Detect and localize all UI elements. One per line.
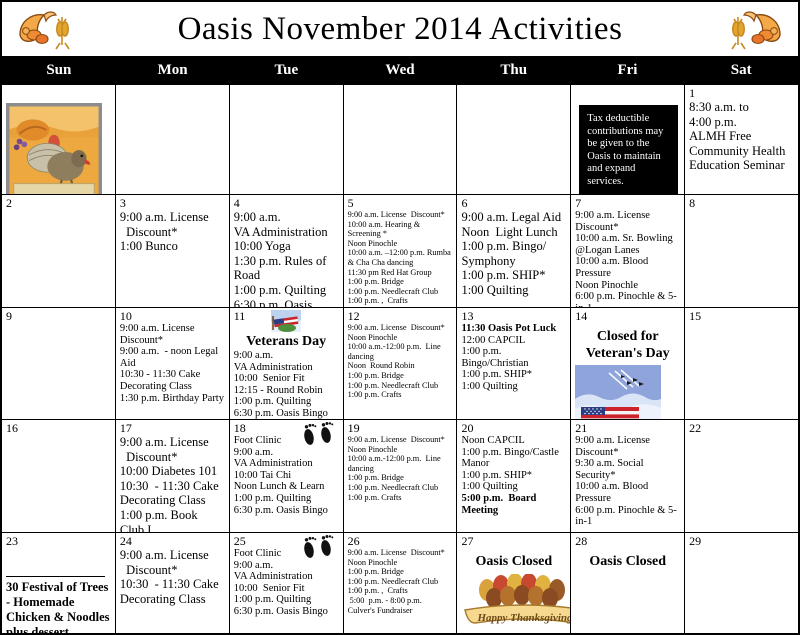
holiday-banner: Oasis Closed bbox=[461, 553, 566, 570]
calendar-week-row: 16179:00 a.m. License Discount*10:00 Dia… bbox=[2, 420, 798, 533]
calendar-day-empty[interactable] bbox=[457, 85, 571, 194]
day-number: 22 bbox=[689, 422, 794, 435]
day-event: 1:00 p.m. Needlecraft Club bbox=[348, 381, 453, 391]
weekday-wed: Wed bbox=[343, 56, 457, 84]
day-event: 5:00 p.m. Board Meeting bbox=[461, 493, 566, 516]
day-event: Pressure bbox=[575, 268, 680, 280]
day-event: Noon Round Robin bbox=[348, 361, 453, 371]
day-event: 1:00 Quilting bbox=[461, 283, 566, 298]
calendar-day-9[interactable]: 9 bbox=[2, 308, 116, 419]
calendar-day-1[interactable]: 18:30 a.m. to4:00 p.m.ALMH FreeCommunity… bbox=[685, 85, 798, 194]
day-number bbox=[6, 87, 111, 100]
day-event: Noon Pinochle bbox=[348, 239, 453, 249]
day-number: 29 bbox=[689, 535, 794, 548]
day-events-list: 9:00 a.m.VA Administration10:00 Yoga1:30… bbox=[234, 210, 339, 307]
day-event: 10:00 Diabetes 101 bbox=[120, 464, 225, 479]
day-event: 10:00 Yoga bbox=[234, 239, 339, 254]
day-events-list: 9:00 a.m. License Discount*1:00 Bunco bbox=[120, 210, 225, 254]
calendar-day-6[interactable]: 69:00 a.m. Legal AidNoon Light Lunch1:00… bbox=[457, 195, 571, 307]
day-event: 4:00 p.m. bbox=[689, 115, 794, 130]
day-event: 9:00 a.m. bbox=[234, 447, 339, 459]
calendar-page: Oasis November 2014 Activities Sun Mon bbox=[0, 0, 800, 635]
day-event: 6:30 p.m. Oasis Bingo bbox=[234, 505, 339, 517]
day-event: 1:00 p.m. Bridge bbox=[348, 277, 453, 287]
calendar-day-14[interactable]: 14Closed forVeteran's Day bbox=[571, 308, 685, 419]
day-event: 10:00 a.m. Blood bbox=[575, 256, 680, 268]
calendar-titlebar: Oasis November 2014 Activities bbox=[0, 0, 800, 56]
day-number: 21 bbox=[575, 422, 680, 435]
weekday-tue: Tue bbox=[229, 56, 343, 84]
day-number: 20 bbox=[461, 422, 566, 435]
happy-thanksgiving-banner-image bbox=[461, 570, 566, 633]
day-event: 1:00 p.m. Quilting bbox=[234, 396, 339, 408]
calendar-day-16[interactable]: 16 bbox=[2, 420, 116, 532]
day-event: 10:00 Tai Chi bbox=[234, 470, 339, 482]
day-events-list: 8:30 a.m. to4:00 p.m.ALMH FreeCommunity … bbox=[689, 100, 794, 173]
holiday-banner: Oasis Closed bbox=[575, 553, 680, 570]
day-number bbox=[461, 87, 566, 100]
day-event: 5:00 p.m. - 8:00 p.m. Culver's Fundraise… bbox=[348, 596, 453, 615]
day-events-list: 9:00 a.m.VA Administration10:00 Senior F… bbox=[234, 350, 339, 419]
day-number: 13 bbox=[461, 310, 566, 323]
day-events-list: 9:00 a.m. License Discount*10:00 a.m. He… bbox=[348, 210, 453, 306]
day-events-list: 11:30 Oasis Pot Luck12:00 CAPCIL1:00 p.m… bbox=[461, 323, 566, 393]
day-event: 1:00 Quilting bbox=[461, 381, 566, 393]
day-event: 10:30 - 11:30 Cake bbox=[120, 577, 225, 592]
day-events-list: 9:00 a.m. License Discount*Noon Pinochle… bbox=[348, 548, 453, 615]
day-event: VA Administration bbox=[234, 362, 339, 374]
calendar-day-13[interactable]: 1311:30 Oasis Pot Luck12:00 CAPCIL1:00 p… bbox=[457, 308, 571, 419]
day-event: 1:00 p.m. SHIP* bbox=[461, 369, 566, 381]
day-event: 12:15 - Round Robin bbox=[234, 385, 339, 397]
day-number: 8 bbox=[689, 197, 794, 210]
calendar-day-empty[interactable] bbox=[344, 85, 458, 194]
calendar-day-4[interactable]: 49:00 a.m.VA Administration10:00 Yoga1:3… bbox=[230, 195, 344, 307]
calendar-week-row: 9109:00 a.m. LicenseDiscount*9:00 a.m. -… bbox=[2, 308, 798, 420]
holiday-banner: Veterans Day bbox=[234, 333, 339, 350]
day-event: 6:30 p.m. Oasis Bingo bbox=[234, 606, 339, 618]
calendar-day-8[interactable]: 8 bbox=[685, 195, 798, 307]
calendar-day-7[interactable]: 79:00 a.m. LicenseDiscount*10:00 a.m. Sr… bbox=[571, 195, 685, 307]
calendar-day-21[interactable]: 219:00 a.m. LicenseDiscount*9:30 a.m. So… bbox=[571, 420, 685, 532]
weekday-fri: Fri bbox=[571, 56, 685, 84]
day-event: 9:00 a.m. bbox=[234, 350, 339, 362]
calendar-day-10[interactable]: 109:00 a.m. LicenseDiscount*9:00 a.m. - … bbox=[116, 308, 230, 419]
day-number: 24 bbox=[120, 535, 225, 548]
day-event: 10:00 a.m. Hearing & Screening * bbox=[348, 220, 453, 239]
day-event: 6:00 p.m. Pinochle & 5-in-1 bbox=[575, 291, 680, 307]
day-number: 23 bbox=[6, 535, 111, 548]
holiday-banner-line: Veteran's Day bbox=[575, 345, 680, 362]
day-event: 1:00 p.m. Bingo/Castle bbox=[461, 447, 566, 459]
day-number: 12 bbox=[348, 310, 453, 323]
day-event: 1:00 p.m. Book Club I bbox=[120, 508, 225, 532]
day-event: 1:00 p.m. Bridge bbox=[348, 371, 453, 381]
day-event: Noon Pinochle bbox=[348, 333, 453, 343]
day-event: 1:00 p.m. Needlecraft Club bbox=[348, 287, 453, 297]
calendar-day-15[interactable]: 15 bbox=[685, 308, 798, 419]
day-event: Pressure bbox=[575, 493, 680, 505]
calendar-day-26[interactable]: 269:00 a.m. License Discount*Noon Pinoch… bbox=[344, 533, 458, 634]
day-event: 9:00 a.m. bbox=[234, 560, 339, 572]
calendar-day-3[interactable]: 39:00 a.m. License Discount*1:00 Bunco bbox=[116, 195, 230, 307]
day-event: 12:00 CAPCIL bbox=[461, 335, 566, 347]
day-number: 10 bbox=[120, 310, 225, 323]
day-event: Symphony bbox=[461, 254, 566, 269]
american-flag-icon bbox=[234, 310, 339, 332]
calendar-grid: Tax deductible contributions may be give… bbox=[0, 84, 800, 635]
day-number bbox=[120, 87, 225, 100]
day-event: 9:00 a.m. bbox=[234, 210, 339, 225]
weekday-sun: Sun bbox=[2, 56, 116, 84]
day-number: 17 bbox=[120, 422, 225, 435]
day-events-list: 9:00 a.m. Legal AidNoon Light Lunch1:00 … bbox=[461, 210, 566, 298]
day-event: VA Administration bbox=[234, 225, 339, 240]
day-number: 15 bbox=[689, 310, 794, 323]
day-event: 10:00 a.m.-12:00 p.m. Line dancing bbox=[348, 342, 453, 361]
cornucopia-icon bbox=[14, 5, 78, 53]
day-event: Manor bbox=[461, 458, 566, 470]
day-events-list: 9:00 a.m. License Discount*Noon Pinochle… bbox=[348, 435, 453, 502]
cornucopia-icon bbox=[722, 5, 786, 53]
festival-of-trees-note: 30 Festival of Trees - Homemade Chicken … bbox=[6, 580, 111, 634]
day-event: 1:00 p.m. Needlecraft Club bbox=[348, 577, 453, 587]
day-event: 11:30 Oasis Pot Luck bbox=[461, 323, 566, 335]
footprints-icon bbox=[297, 422, 337, 448]
calendar-day-12[interactable]: 129:00 a.m. License Discount*Noon Pinoch… bbox=[344, 308, 458, 419]
day-number bbox=[348, 87, 453, 100]
calendar-day-11[interactable]: 11Veterans Day9:00 a.m.VA Administration… bbox=[230, 308, 344, 419]
day-event: ALMH Free bbox=[689, 129, 794, 144]
day-event: 11:30 pm Red Hat Group bbox=[348, 268, 453, 278]
day-event: 6:30 p.m. Oasis Bingo bbox=[234, 298, 339, 307]
day-events-list: 9:00 a.m. LicenseDiscount*10:00 a.m. Sr.… bbox=[575, 210, 680, 307]
calendar-day-17[interactable]: 179:00 a.m. License Discount*10:00 Diabe… bbox=[116, 420, 230, 532]
day-event: VA Administration bbox=[234, 458, 339, 470]
day-event: 9:00 a.m. License Discount* bbox=[348, 548, 453, 558]
day-events-list: 9:00 a.m. LicenseDiscount*9:30 a.m. Soci… bbox=[575, 435, 680, 528]
day-event: 9:00 a.m. License Discount* bbox=[348, 323, 453, 333]
day-event: 1:00 p.m. Bridge bbox=[348, 567, 453, 577]
veterans-flag-image bbox=[575, 362, 680, 419]
day-event: 1:30 p.m. Rules of Road bbox=[234, 254, 339, 283]
day-event: Discount* bbox=[575, 222, 680, 234]
footprints-icon bbox=[297, 535, 337, 561]
day-event: 1:00 p.m. Quilting bbox=[234, 283, 339, 298]
calendar-day-23[interactable]: 2330 Festival of Trees - Homemade Chicke… bbox=[2, 533, 116, 634]
day-event: Education Seminar bbox=[689, 158, 794, 173]
calendar-day-5[interactable]: 59:00 a.m. License Discount*10:00 a.m. H… bbox=[344, 195, 458, 307]
day-event: 1:00 p.m. Quilting bbox=[234, 594, 339, 606]
calendar-day-empty[interactable]: Tax deductible contributions may be give… bbox=[571, 85, 685, 194]
day-number: 2 bbox=[6, 197, 111, 210]
day-event: 6:00 p.m. Pinochle & 5-in-1 bbox=[575, 505, 680, 528]
day-event: Noon CAPCIL bbox=[461, 435, 566, 447]
day-number: 16 bbox=[6, 422, 111, 435]
day-events-list: Noon CAPCIL1:00 p.m. Bingo/CastleManor1:… bbox=[461, 435, 566, 516]
calendar-day-28[interactable]: 28Oasis Closed bbox=[571, 533, 685, 634]
calendar-day-empty[interactable] bbox=[230, 85, 344, 194]
day-event: 1:00 p.m. Crafts bbox=[348, 493, 453, 503]
calendar-day-24[interactable]: 249:00 a.m. License Discount*10:30 - 11:… bbox=[116, 533, 230, 634]
day-event: Community Health bbox=[689, 144, 794, 159]
day-event: 1:00 p.m. Needlecraft Club bbox=[348, 483, 453, 493]
day-event: 10:00 Senior Fit bbox=[234, 583, 339, 595]
day-event: 9:00 a.m. Legal Aid bbox=[461, 210, 566, 225]
day-event: 9:00 a.m. License bbox=[575, 210, 680, 222]
day-event: 9:00 a.m. License Discount* bbox=[348, 435, 453, 445]
day-event: Security* bbox=[575, 470, 680, 482]
day-event: 1:00 p.m. Bingo/Christian bbox=[461, 346, 566, 369]
day-event: 10:00 a.m. Sr. Bowling bbox=[575, 233, 680, 245]
day-number: 1 bbox=[689, 87, 794, 100]
day-event: Discount* bbox=[120, 225, 225, 240]
day-event: 9:00 a.m. License bbox=[575, 435, 680, 447]
day-event: 10:30 - 11:30 Cake bbox=[120, 369, 225, 381]
page-title: Oasis November 2014 Activities bbox=[178, 11, 623, 48]
day-event: Noon Light Lunch bbox=[461, 225, 566, 240]
day-event: 6:30 p.m. Oasis Bingo bbox=[234, 408, 339, 419]
calendar-day-29[interactable]: 29 bbox=[685, 533, 798, 634]
day-event: 9:00 a.m. License bbox=[120, 210, 225, 225]
calendar-day-empty[interactable] bbox=[116, 85, 230, 194]
day-number bbox=[575, 87, 680, 100]
day-event: 10:00 a.m.-12:00 p.m. Line dancing bbox=[348, 454, 453, 473]
day-number: 28 bbox=[575, 535, 680, 548]
day-number: 7 bbox=[575, 197, 680, 210]
day-event: 1:00 p.m. , Crafts bbox=[348, 296, 453, 306]
day-event: 1:00 p.m. Crafts bbox=[348, 390, 453, 400]
day-event: 10:30 - 11:30 Cake bbox=[120, 479, 225, 494]
day-events-list: 9:00 a.m. License Discount*10:30 - 11:30… bbox=[120, 548, 225, 606]
day-events-list: 9:00 a.m. LicenseDiscount*9:00 a.m. - no… bbox=[120, 323, 225, 404]
day-event: 9:00 a.m. License Discount* bbox=[348, 210, 453, 220]
day-event: 9:30 a.m. Social bbox=[575, 458, 680, 470]
calendar-week-row: Tax deductible contributions may be give… bbox=[2, 85, 798, 195]
day-event: Discount* bbox=[120, 450, 225, 465]
day-event: Noon Pinochle bbox=[575, 280, 680, 292]
calendar-day-22[interactable]: 22 bbox=[685, 420, 798, 532]
day-events-list: 9:00 a.m. License Discount*Noon Pinochle… bbox=[348, 323, 453, 400]
day-event: 10:00 a.m. Blood bbox=[575, 481, 680, 493]
weekday-thu: Thu bbox=[457, 56, 571, 84]
day-event: 1:00 Quilting bbox=[461, 481, 566, 493]
day-number bbox=[234, 87, 339, 100]
day-number: 26 bbox=[348, 535, 453, 548]
day-number: 19 bbox=[348, 422, 453, 435]
turkey-postcard-image bbox=[6, 100, 111, 194]
day-event: 1:00 p.m. Bingo/ bbox=[461, 239, 566, 254]
day-event: VA Administration bbox=[234, 571, 339, 583]
day-event: 9:00 a.m. License bbox=[120, 548, 225, 563]
day-event: Discount* bbox=[575, 447, 680, 459]
day-event: 1:30 p.m. Birthday Party bbox=[120, 393, 225, 405]
day-events-list: 9:00 a.m. License Discount*10:00 Diabete… bbox=[120, 435, 225, 532]
calendar-day-20[interactable]: 20Noon CAPCIL1:00 p.m. Bingo/CastleManor… bbox=[457, 420, 571, 532]
day-event: 1:00 p.m. Bridge bbox=[348, 473, 453, 483]
day-event: Noon Pinochle bbox=[348, 558, 453, 568]
day-event: 8:30 a.m. to bbox=[689, 100, 794, 115]
day-event: 9:00 a.m. - noon Legal Aid bbox=[120, 346, 225, 369]
day-number: 3 bbox=[120, 197, 225, 210]
day-number: 27 bbox=[461, 535, 566, 548]
day-event: Decorating Class bbox=[120, 493, 225, 508]
day-event: Decorating Class bbox=[120, 381, 225, 393]
day-event: 9:00 a.m. License bbox=[120, 435, 225, 450]
calendar-day-27[interactable]: 27Oasis Closed bbox=[457, 533, 571, 634]
day-number: 4 bbox=[234, 197, 339, 210]
day-event: 1:00 p.m. Quilting bbox=[234, 493, 339, 505]
weekday-mon: Mon bbox=[116, 56, 230, 84]
day-event: Noon Lunch & Learn bbox=[234, 481, 339, 493]
day-event: Decorating Class bbox=[120, 592, 225, 607]
day-event: 1:00 p.m. SHIP* bbox=[461, 470, 566, 482]
calendar-day-empty[interactable] bbox=[2, 85, 116, 194]
calendar-week-row: 239:00 a.m. License Discount*1:00 Bunco4… bbox=[2, 195, 798, 308]
day-event: Discount* bbox=[120, 563, 225, 578]
calendar-day-19[interactable]: 199:00 a.m. License Discount*Noon Pinoch… bbox=[344, 420, 458, 532]
calendar-day-2[interactable]: 2 bbox=[2, 195, 116, 307]
day-number: 5 bbox=[348, 197, 453, 210]
day-number: 6 bbox=[461, 197, 566, 210]
day-number: 14 bbox=[575, 310, 680, 323]
day-event: Discount* bbox=[120, 335, 225, 347]
day-event: 10:00 Senior Fit bbox=[234, 373, 339, 385]
day-number: 9 bbox=[6, 310, 111, 323]
calendar-day-25[interactable]: 25Foot Clinic9:00 a.m.VA Administration1… bbox=[230, 533, 344, 634]
day-event: 1:00 p.m. SHIP* bbox=[461, 268, 566, 283]
day-event: 1:00 p.m. , Crafts bbox=[348, 586, 453, 596]
holiday-banner-line: Closed for bbox=[575, 328, 680, 345]
tax-deductible-note: Tax deductible contributions may be give… bbox=[579, 105, 678, 194]
day-event: 10:00 a.m. –12:00 p.m. Rumba & Cha Cha d… bbox=[348, 248, 453, 267]
day-event: 1:00 Bunco bbox=[120, 239, 225, 254]
calendar-day-18[interactable]: 18Foot Clinic9:00 a.m.VA Administration1… bbox=[230, 420, 344, 532]
day-event: Noon Pinochle bbox=[348, 445, 453, 455]
calendar-week-row: 2330 Festival of Trees - Homemade Chicke… bbox=[2, 533, 798, 634]
day-event: @Logan Lanes bbox=[575, 245, 680, 257]
holiday-banner: Closed forVeteran's Day bbox=[575, 328, 680, 362]
weekday-header-row: Sun Mon Tue Wed Thu Fri Sat bbox=[0, 56, 800, 84]
cell-divider bbox=[6, 576, 105, 577]
day-event: 9:00 a.m. License bbox=[120, 323, 225, 335]
weekday-sat: Sat bbox=[684, 56, 798, 84]
